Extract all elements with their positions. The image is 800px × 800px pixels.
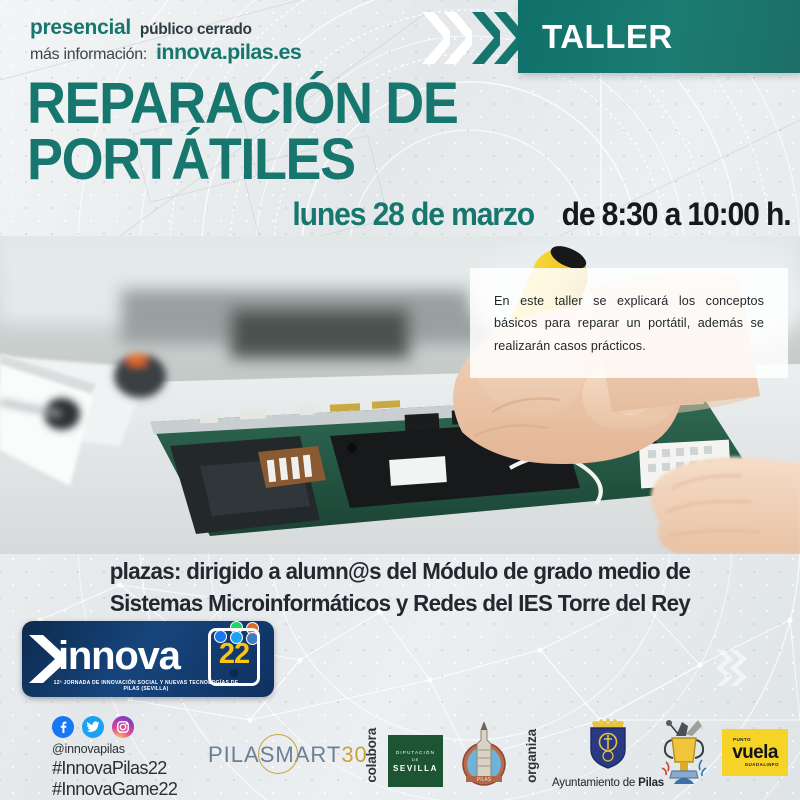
plazas-block: plazas: dirigido a alumn@s del Módulo de… [0,556,800,619]
description-text: En este taller se explicará los concepto… [494,290,764,357]
kicker-presencial: presencial [30,16,131,40]
social-icons-row [52,716,177,738]
kicker-row-1: presencial público cerrado [30,16,301,40]
ayuntamiento-pilas-logo: Ayuntamiento de Pilas [548,718,668,789]
colabora-label: colabora [364,728,379,783]
taller-badge: TALLER [518,0,800,73]
info-url[interactable]: innova.pilas.es [156,40,301,64]
kicker-row-2: más información: innova.pilas.es [30,40,301,64]
phone-home-button-icon [230,669,239,678]
diputacion-bottom-text: SEVILLA [393,764,438,773]
pilasmart-ring-icon [258,734,298,774]
hashtag-innovapilas: #InnovaPilas22 [52,758,177,779]
event-time: de 8:30 a 10:00 h. [561,196,790,233]
title-line-2: PORTÁTILES [27,132,457,188]
plazas-line-1: plazas: dirigido a alumn@s del Módulo de… [20,556,780,588]
plazas-line-2: Sistemas Microinformáticos y Redes del I… [20,588,780,620]
photo-band: En este taller se explicará los concepto… [0,236,800,554]
innova-wordmark: innova [58,636,180,676]
poster-title: REPARACIÓN DE PORTÁTILES [27,76,490,189]
vuela-bottom-text: GUADALINFO [745,763,779,767]
social-handle: @innovapilas [52,741,177,758]
facebook-icon[interactable] [52,716,74,738]
organiza-label: organiza [524,729,539,783]
innova-tagline: 12ª JORNADA DE INNOVACIÓN SOCIAL Y NUEVA… [22,680,274,692]
vuela-main-text: vuela [732,743,778,762]
svg-text:PILAS: PILAS [477,777,492,783]
date-time-row: lunes 28 de marzo de 8:30 a 10:00 h. [277,196,790,233]
innova-phone-icon: 22 [208,628,260,686]
twitter-icon[interactable] [82,716,104,738]
kicker-block: presencial público cerrado más informaci… [30,16,301,64]
title-line-1: REPARACIÓN DE [27,76,457,132]
innova-logo: innova 22 12ª JORNADA DE INNOVACIÓN SOCI… [22,621,274,697]
ayuntamiento-crest-icon [585,718,631,770]
kicker-publico-cerrado: público cerrado [140,21,252,38]
punto-vuela-guadalinfo-logo: PUNTO vuela GUADALINFO [722,729,788,776]
social-block: @innovapilas #InnovaPilas22 #InnovaGame2… [52,716,177,800]
chevron-white-2 [442,10,472,66]
trophy-illustration [656,718,712,784]
chevron-group [420,10,530,66]
poster-header: presencial público cerrado más informaci… [0,0,800,236]
ayuntamiento-prefix: Ayuntamiento de [552,777,638,789]
info-label: más información: [30,46,147,64]
torre-pilas-logo: PILAS [458,722,510,786]
innova-year: 22 [211,640,257,669]
hashtag-innovagame: #InnovaGame22 [52,779,177,800]
poster-root: presencial público cerrado más informaci… [0,0,800,800]
diputacion-sevilla-logo: DIPUTACIÓN DE SEVILLA [388,735,443,787]
ayuntamiento-text: Ayuntamiento de Pilas [548,777,668,789]
diputacion-mid-text: DE [412,757,419,762]
description-box: En este taller se explicará los concepto… [470,268,788,378]
diputacion-top-text: DIPUTACIÓN [396,750,435,755]
event-date: lunes 28 de marzo [292,196,534,233]
instagram-icon[interactable] [112,716,134,738]
taller-badge-label: TALLER [542,18,673,56]
